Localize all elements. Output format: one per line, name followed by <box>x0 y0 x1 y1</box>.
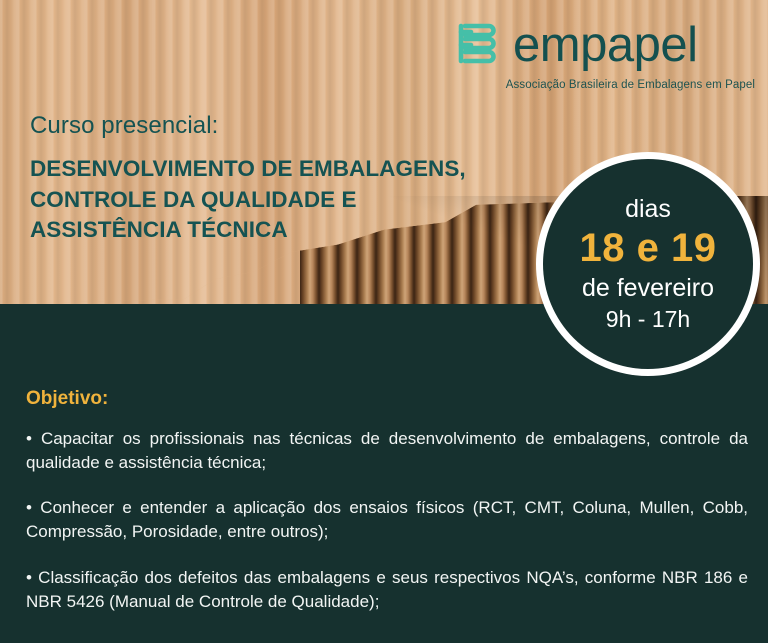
course-title-line-1: DESENVOLVIMENTO DE EMBALAGENS, <box>30 154 550 185</box>
course-title-line-3: ASSISTÊNCIA TÉCNICA <box>30 215 550 246</box>
brand-logo: empapel Associação Brasileira de Embalag… <box>455 14 755 102</box>
course-promo-poster: empapel Associação Brasileira de Embalag… <box>0 0 768 643</box>
date-badge-days: 18 e 19 <box>580 228 717 268</box>
logo-lockup: empapel <box>455 14 755 76</box>
objective-bullet: • Classificação dos defeitos das embalag… <box>26 566 748 614</box>
headline-block: Curso presencial: DESENVOLVIMENTO DE EMB… <box>30 112 550 246</box>
logo-wordmark: empapel <box>513 21 697 70</box>
empapel-e-monogram-icon <box>455 20 499 70</box>
objective-bullet: • Conhecer e entender a aplicação dos en… <box>26 496 748 544</box>
course-title: DESENVOLVIMENTO DE EMBALAGENS, CONTROLE … <box>30 154 550 246</box>
course-title-line-2: CONTROLE DA QUALIDADE E <box>30 185 550 216</box>
objective-section: Objetivo: • Capacitar os profissionais n… <box>26 388 748 614</box>
date-badge-month: de fevereiro <box>582 276 714 301</box>
date-badge-hours: 9h - 17h <box>606 308 690 331</box>
date-badge-label: dias <box>625 197 671 222</box>
objective-label: Objetivo: <box>26 388 748 410</box>
date-badge: dias 18 e 19 de fevereiro 9h - 17h <box>543 159 753 369</box>
logo-tagline: Associação Brasileira de Embalagens em P… <box>455 79 755 91</box>
course-kicker: Curso presencial: <box>30 112 550 140</box>
objective-bullet: • Capacitar os profissionais nas técnica… <box>26 427 748 475</box>
